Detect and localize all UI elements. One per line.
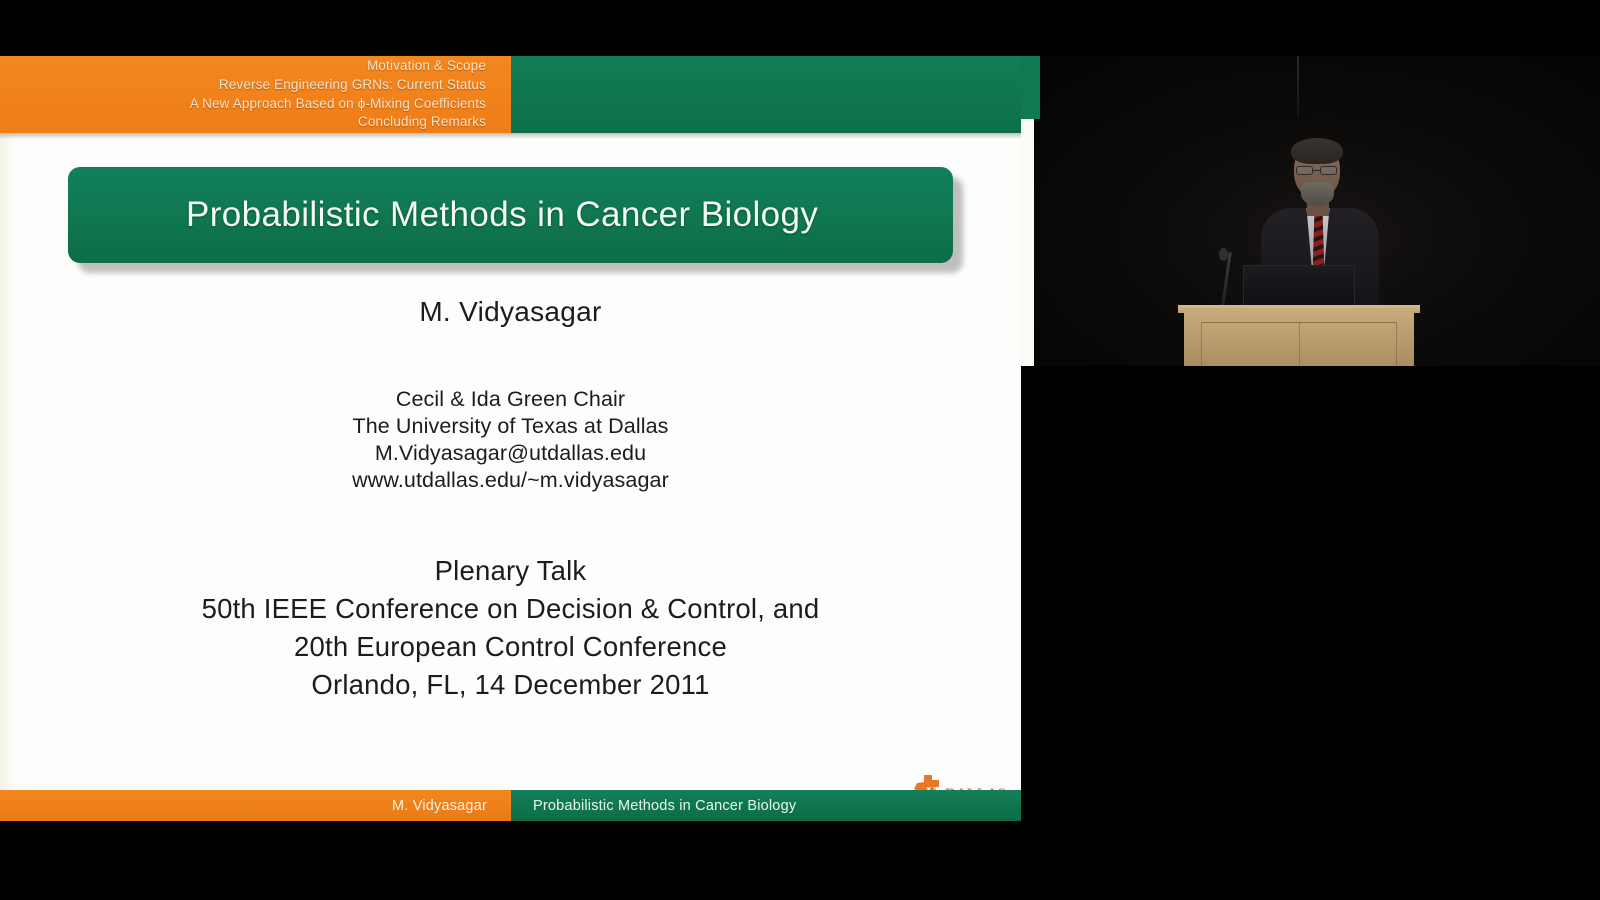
affiliation-email[interactable]: M.Vidyasagar@utdallas.edu (0, 440, 1021, 467)
screen-root: Motivation & Scope Reverse Engineering G… (0, 0, 1600, 900)
eyeglasses-right-lens (1320, 166, 1337, 175)
eyeglasses-bridge (1313, 170, 1320, 171)
nav-item-reverse-engineering[interactable]: Reverse Engineering GRNs: Current Status (219, 76, 486, 95)
slide-body: M. Vidyasagar Cecil & Ida Green Chair Th… (0, 296, 1021, 704)
affiliation-chair: Cecil & Ida Green Chair (0, 386, 1021, 413)
author-name: M. Vidyasagar (0, 296, 1021, 328)
page-title: Probabilistic Methods in Cancer Biology (186, 195, 818, 235)
slide-title-block: Probabilistic Methods in Cancer Biology (68, 167, 953, 267)
presentation-slide: Motivation & Scope Reverse Engineering G… (0, 56, 1021, 821)
affiliation-university: The University of Texas at Dallas (0, 413, 1021, 440)
affiliation-block: Cecil & Ida Green Chair The University o… (0, 386, 1021, 494)
venue-location-date: Orlando, FL, 14 December 2011 (0, 666, 1021, 704)
slide-header-green-panel (511, 56, 1021, 133)
microphone-head (1219, 248, 1228, 261)
slide-nav-section-list: Motivation & Scope Reverse Engineering G… (0, 56, 511, 133)
slide-footer-bar: M. Vidyasagar Probabilistic Methods in C… (0, 790, 1021, 821)
footer-author: M. Vidyasagar (392, 798, 487, 814)
venue-conference-cdc: 50th IEEE Conference on Decision & Contr… (0, 590, 1021, 628)
footer-title-section: Probabilistic Methods in Cancer Biology (511, 790, 1021, 821)
presenter-beard (1301, 182, 1334, 206)
title-banner: Probabilistic Methods in Cancer Biology (68, 167, 953, 263)
nav-item-motivation-scope[interactable]: Motivation & Scope (367, 57, 486, 76)
podium-panel-seam (1299, 322, 1300, 366)
affiliation-website[interactable]: www.utdallas.edu/~m.vidyasagar (0, 467, 1021, 494)
laptop-screen (1243, 265, 1355, 310)
venue-block: Plenary Talk 50th IEEE Conference on Dec… (0, 552, 1021, 704)
presenter-hair (1291, 138, 1343, 164)
footer-title: Probabilistic Methods in Cancer Biology (533, 798, 796, 814)
slide-header-bar: Motivation & Scope Reverse Engineering G… (0, 56, 1021, 133)
eyeglasses-left-lens (1296, 166, 1313, 175)
nav-item-new-approach[interactable]: A New Approach Based on ϕ-Mixing Coeffic… (190, 95, 486, 114)
nav-item-concluding-remarks[interactable]: Concluding Remarks (358, 113, 486, 132)
venue-talk-type: Plenary Talk (0, 552, 1021, 590)
venue-conference-ecc: 20th European Control Conference (0, 628, 1021, 666)
header-drop-shadow (0, 133, 1021, 139)
speaker-video-feed[interactable] (1021, 56, 1600, 366)
footer-author-section: M. Vidyasagar (0, 790, 511, 821)
